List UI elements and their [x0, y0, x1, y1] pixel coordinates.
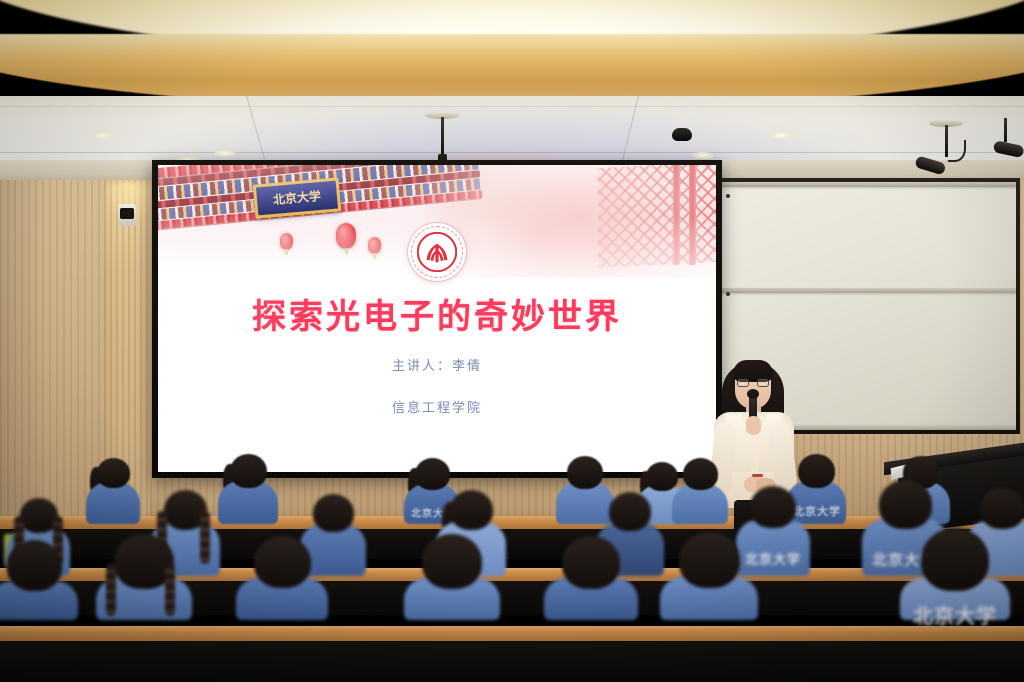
whiteboard-rail [720, 182, 1016, 187]
ceiling-seam [0, 152, 1024, 153]
whiteboard-rail [720, 288, 1016, 293]
pendant-rod [441, 117, 444, 159]
audience-head [7, 540, 62, 591]
ceiling-downlight [92, 132, 114, 139]
audience-head [980, 488, 1024, 529]
audience-head [313, 494, 354, 532]
audience-person [0, 540, 78, 620]
wall-camera-icon [120, 208, 134, 219]
slide-department-line: 信息工程学院 [158, 397, 716, 416]
audience-head [679, 532, 740, 588]
audience-person [218, 454, 278, 524]
audience-person [660, 532, 758, 620]
audience-person [404, 534, 500, 620]
audience-person: 北京大学 [900, 528, 1010, 620]
audience-person [96, 534, 192, 620]
audience-person [544, 536, 638, 620]
audience-head [750, 486, 796, 528]
audience-person [672, 458, 728, 524]
whiteboard-screw [726, 194, 730, 198]
slide-presenter-line: 主讲人：李倩 [158, 355, 716, 374]
audience-person [236, 536, 328, 620]
ceiling-downlight [692, 152, 714, 159]
audience-shirt [672, 484, 728, 524]
desk-back-panel [0, 641, 1024, 682]
peking-university-seal-icon [408, 223, 466, 281]
audience-head [97, 458, 130, 488]
audience-head [254, 536, 311, 588]
audience-head [879, 480, 932, 529]
braid [165, 563, 175, 616]
speaker-glasses [737, 379, 769, 387]
audience-shirt [86, 482, 140, 524]
slide-title: 探索光电子的奇妙世界 [158, 289, 716, 338]
audience-person [86, 458, 140, 524]
audience-head [567, 456, 603, 489]
microphone-capsule [747, 389, 759, 399]
audience-head [415, 458, 450, 490]
shirt-logo-text: 北京大学 [913, 600, 997, 629]
spotlight-rod [1004, 118, 1007, 142]
audience-head [422, 534, 482, 589]
audience-head [450, 490, 493, 530]
audience-head [683, 458, 718, 490]
ceiling-seam [0, 106, 1024, 107]
audience-head [921, 528, 989, 591]
speaker-hand [746, 416, 761, 435]
seal-ring [411, 226, 463, 278]
ceiling-downlight [770, 132, 792, 139]
audience-head [798, 454, 835, 488]
presentation-slide: 北京大学 [158, 165, 716, 472]
lecture-hall-photo: 北京大学 [0, 0, 1024, 682]
braid [106, 563, 116, 616]
audience-head [230, 454, 267, 488]
desk-surface [0, 626, 1024, 641]
speaker-bracelet [752, 474, 763, 477]
ceiling-downlight [214, 150, 236, 157]
projection-screen: 北京大学 [152, 160, 722, 478]
audience-head [609, 492, 651, 531]
audience-head [562, 536, 620, 589]
whiteboard-screw [726, 292, 730, 296]
braid [200, 511, 210, 564]
ceiling-camera-icon [672, 128, 692, 141]
